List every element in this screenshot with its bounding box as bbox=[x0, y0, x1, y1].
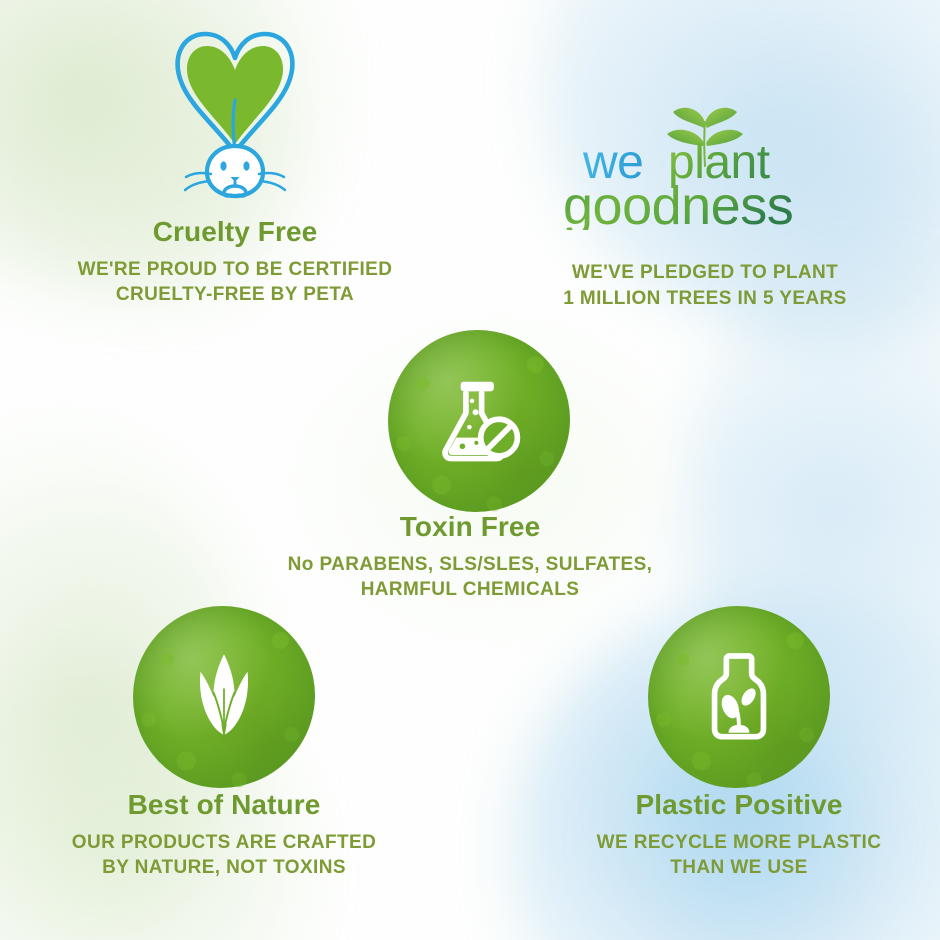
subtitle-line: THAN WE USE bbox=[504, 855, 940, 881]
badge-subtitle-plastic-positive: WE RECYCLE MORE PLASTIC THAN WE USE bbox=[504, 830, 940, 881]
toxin-free-badge-circle bbox=[388, 330, 570, 512]
badge-we-plant-goodness: we plant goodness WE'VE PLEDGED TO PLANT… bbox=[470, 100, 940, 311]
subtitle-line: CRUELTY-FREE BY PETA bbox=[0, 282, 470, 308]
infographic-canvas: Cruelty Free WE'RE PROUD TO BE CERTIFIED… bbox=[0, 0, 940, 940]
bottle-sprout-icon bbox=[691, 649, 787, 745]
subtitle-line: 1 MILLION TREES IN 5 YEARS bbox=[470, 286, 940, 312]
subtitle-line: No PARABENS, SLS/SLES, SULFATES, bbox=[235, 552, 705, 578]
subtitle-line: BY NATURE, NOT TOXINS bbox=[0, 855, 459, 881]
subtitle-line: HARMFUL CHEMICALS bbox=[235, 577, 705, 603]
subtitle-line: WE'RE PROUD TO BE CERTIFIED bbox=[0, 257, 470, 283]
badge-best-of-nature: Best of Nature OUR PRODUCTS ARE CRAFTED … bbox=[0, 790, 459, 881]
logo-word-goodness: goodness bbox=[563, 176, 793, 230]
subtitle-line: OUR PRODUCTS ARE CRAFTED bbox=[0, 830, 459, 856]
badge-heading-toxin-free: Toxin Free bbox=[235, 512, 705, 543]
badge-heading-cruelty-free: Cruelty Free bbox=[0, 217, 470, 248]
badge-subtitle-we-plant-goodness: WE'VE PLEDGED TO PLANT 1 MILLION TREES I… bbox=[470, 260, 940, 311]
badge-plastic-positive: Plastic Positive WE RECYCLE MORE PLASTIC… bbox=[504, 790, 940, 881]
we-plant-goodness-logo: we plant goodness bbox=[555, 100, 855, 230]
badge-subtitle-best-of-nature: OUR PRODUCTS ARE CRAFTED BY NATURE, NOT … bbox=[0, 830, 459, 881]
subtitle-line: WE RECYCLE MORE PLASTIC bbox=[504, 830, 940, 856]
badge-heading-plastic-positive: Plastic Positive bbox=[504, 790, 940, 821]
best-of-nature-badge-circle bbox=[133, 606, 315, 788]
badge-subtitle-cruelty-free: WE'RE PROUD TO BE CERTIFIED CRUELTY-FREE… bbox=[0, 257, 470, 308]
flask-no-entry-icon bbox=[431, 373, 527, 469]
badge-toxin-free: Toxin Free No PARABENS, SLS/SLES, SULFAT… bbox=[235, 512, 705, 603]
subtitle-line: WE'VE PLEDGED TO PLANT bbox=[470, 260, 940, 286]
badge-heading-best-of-nature: Best of Nature bbox=[0, 790, 459, 821]
badge-subtitle-toxin-free: No PARABENS, SLS/SLES, SULFATES, HARMFUL… bbox=[235, 552, 705, 603]
plastic-positive-badge-circle bbox=[648, 606, 830, 788]
badge-cruelty-free: Cruelty Free WE'RE PROUD TO BE CERTIFIED… bbox=[0, 26, 470, 308]
bunny-heart-icon bbox=[165, 26, 305, 201]
three-leaves-icon bbox=[176, 649, 272, 745]
